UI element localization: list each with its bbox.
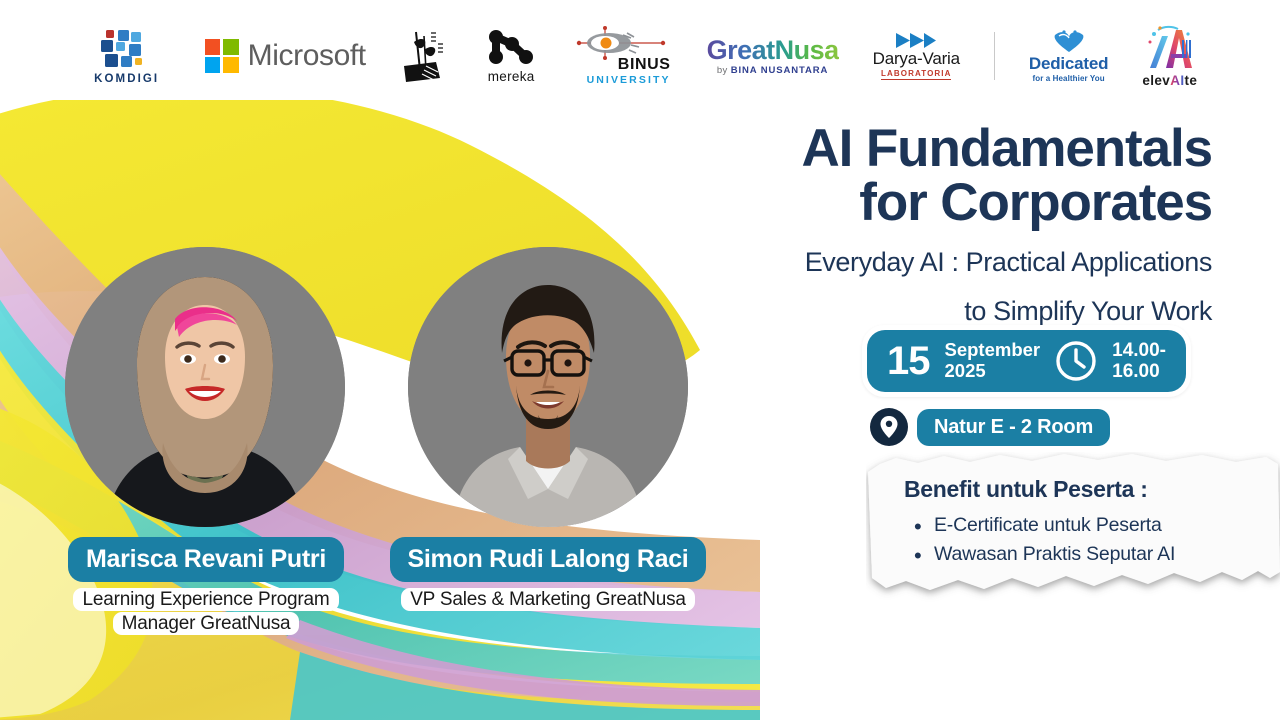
event-poster: KOMDIGI Microsoft: [0, 0, 1280, 720]
speaker-block-1: Marisca Revani Putri Learning Experience…: [48, 537, 364, 637]
map-pin-badge: [870, 408, 908, 446]
elevaite-logo: elevAIte: [1142, 24, 1197, 88]
benefit-item: Wawasan Praktis Seputar AI: [904, 540, 1268, 569]
event-title-line1: AI Fundamentals: [612, 122, 1212, 176]
elevaite-wordmark: elevAIte: [1142, 73, 1197, 88]
elevaite-word-ai: AI: [1170, 73, 1184, 88]
darya-varia-logo: Darya-Varia LABORATORIA: [873, 32, 960, 80]
location-row: Natur E - 2 Room: [870, 408, 1110, 446]
partner-logo-bar: KOMDIGI Microsoft: [0, 0, 1280, 112]
komdigi-wordmark: KOMDIGI: [94, 73, 159, 85]
speaker-block-2: Simon Rudi Lalong Raci VP Sales & Market…: [370, 537, 726, 612]
benefits-panel: Benefit untuk Peserta : E-Certificate un…: [866, 452, 1280, 628]
schedule-card: 15 September 2025 14.00- 16.00: [862, 325, 1191, 397]
binus-sub: UNIVERSITY: [569, 73, 671, 88]
speaker-role-line1: VP Sales & Marketing GreatNusa: [401, 588, 695, 611]
event-month: September: [945, 340, 1041, 361]
event-title-line2: for Corporates: [612, 176, 1212, 230]
event-subtitle-line2: to Simplify Your Work: [612, 295, 1212, 328]
microsoft-wordmark: Microsoft: [248, 39, 366, 73]
mereka-wordmark: mereka: [488, 69, 535, 84]
komdigi-icon: [98, 28, 156, 70]
event-time: 14.00- 16.00: [1112, 340, 1166, 383]
benefits-content: Benefit untuk Peserta : E-Certificate un…: [904, 476, 1268, 570]
benefits-title: Benefit untuk Peserta :: [904, 476, 1268, 503]
event-year: 2025: [945, 361, 1041, 382]
greatnusa-sub: by BINA NUSANTARA: [717, 65, 828, 76]
map-pin-icon: [879, 415, 899, 439]
speaker-role-line1: Learning Experience Program: [73, 588, 338, 611]
binus-wordmark: BINUS: [569, 57, 671, 73]
dedicated-logo: Dedicated for a Healthier You: [1029, 29, 1108, 83]
schedule-card-inner: 15 September 2025 14.00- 16.00: [867, 330, 1186, 392]
mereka-icon: [488, 29, 534, 65]
event-room: Natur E - 2 Room: [917, 409, 1110, 446]
darya-varia-chevron-icon: [894, 32, 938, 49]
title-block: AI Fundamentals for Corporates Everyday …: [612, 122, 1212, 328]
microsoft-logo: Microsoft: [205, 39, 366, 73]
dedicated-wordmark: Dedicated: [1029, 55, 1108, 74]
dedicated-sub: for a Healthier You: [1032, 74, 1104, 83]
microsoft-icon: [205, 39, 239, 73]
elevaite-icon: [1144, 24, 1196, 72]
logo-divider: [994, 32, 995, 80]
greatnusa-sub-prefix: by: [717, 65, 731, 76]
speaker-role: Learning Experience Program Manager Grea…: [73, 588, 338, 637]
benefits-list: E-Certificate untuk Peserta Wawasan Prak…: [904, 511, 1268, 570]
elevaite-word-pre: elev: [1142, 73, 1170, 88]
brush-mark-icon: [400, 26, 454, 86]
brush-mark-logo: [400, 26, 454, 86]
darya-varia-wordmark: Darya-Varia: [873, 50, 960, 68]
speaker-name: Simon Rudi Lalong Raci: [390, 537, 707, 582]
event-subtitle-line1: Everyday AI : Practical Applications: [612, 246, 1212, 279]
speaker-role-line2: Manager GreatNusa: [113, 612, 300, 635]
speaker-photo-marisca: [65, 247, 345, 527]
event-month-year: September 2025: [945, 340, 1041, 382]
greatnusa-logo: GreatNusa by BINA NUSANTARA: [707, 36, 839, 76]
speaker-photo-marisca-illustration: [65, 247, 345, 527]
komdigi-logo: KOMDIGI: [83, 28, 171, 85]
benefit-item: E-Certificate untuk Peserta: [904, 511, 1268, 540]
speaker-role: VP Sales & Marketing GreatNusa: [401, 588, 695, 612]
darya-varia-sub: LABORATORIA: [881, 69, 951, 80]
elevaite-word-post: te: [1185, 73, 1198, 88]
speaker-name: Marisca Revani Putri: [68, 537, 344, 582]
clock-icon: [1055, 340, 1097, 382]
greatnusa-wordmark: GreatNusa: [707, 36, 839, 64]
mereka-logo: mereka: [488, 29, 535, 84]
dedicated-icon: [1051, 29, 1087, 55]
greatnusa-sub-brand: BINA NUSANTARA: [731, 65, 829, 76]
binus-text: BINUS UNIVERSITY: [569, 57, 673, 88]
binus-university-logo: BINUS UNIVERSITY: [569, 25, 673, 88]
event-day: 15: [887, 341, 930, 381]
